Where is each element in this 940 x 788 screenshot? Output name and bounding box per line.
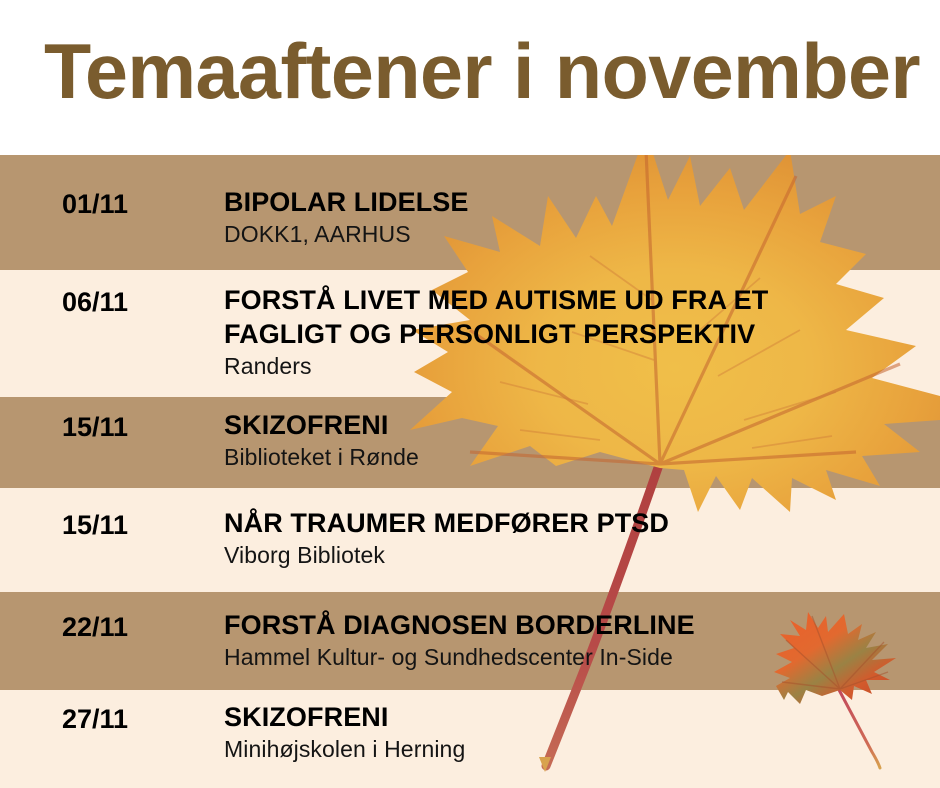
event-title: SKIZOFRENI bbox=[224, 700, 930, 734]
event-venue: Randers bbox=[224, 351, 930, 381]
event-date: 15/11 bbox=[62, 412, 128, 443]
event-body: BIPOLAR LIDELSE DOKK1, AARHUS bbox=[224, 185, 930, 249]
event-body: NÅR TRAUMER MEDFØRER PTSD Viborg Bibliot… bbox=[224, 506, 930, 570]
event-venue: Viborg Bibliotek bbox=[224, 540, 930, 570]
event-venue: Biblioteket i Rønde bbox=[224, 442, 930, 472]
poster-header: Temaaftener i november bbox=[0, 0, 940, 155]
poster-canvas: Temaaftener i november 01/11 BIPOLAR LID… bbox=[0, 0, 940, 788]
event-date: 06/11 bbox=[62, 287, 128, 318]
list-item[interactable]: 15/11 NÅR TRAUMER MEDFØRER PTSD Viborg B… bbox=[0, 488, 940, 592]
list-item[interactable]: 01/11 BIPOLAR LIDELSE DOKK1, AARHUS bbox=[0, 155, 940, 270]
list-item[interactable]: 22/11 FORSTÅ DIAGNOSEN BORDERLINE Hammel… bbox=[0, 592, 940, 690]
event-venue: Hammel Kultur- og Sundhedscenter In-Side bbox=[224, 642, 930, 672]
event-date: 15/11 bbox=[62, 510, 128, 541]
event-title: BIPOLAR LIDELSE bbox=[224, 185, 930, 219]
event-date: 22/11 bbox=[62, 612, 128, 643]
event-venue: Minihøjskolen i Herning bbox=[224, 734, 930, 764]
event-date: 01/11 bbox=[62, 189, 128, 220]
event-date: 27/11 bbox=[62, 704, 128, 735]
page-title: Temaaftener i november bbox=[44, 28, 895, 114]
list-item[interactable]: 06/11 FORSTÅ LIVET MED AUTISME UD FRA ET… bbox=[0, 270, 940, 397]
event-body: FORSTÅ LIVET MED AUTISME UD FRA ET FAGLI… bbox=[224, 283, 930, 381]
event-title: NÅR TRAUMER MEDFØRER PTSD bbox=[224, 506, 930, 540]
event-body: SKIZOFRENI Minihøjskolen i Herning bbox=[224, 700, 930, 764]
event-body: FORSTÅ DIAGNOSEN BORDERLINE Hammel Kultu… bbox=[224, 608, 930, 672]
list-item[interactable]: 27/11 SKIZOFRENI Minihøjskolen i Herning bbox=[0, 690, 940, 788]
list-item[interactable]: 15/11 SKIZOFRENI Biblioteket i Rønde bbox=[0, 397, 940, 488]
event-venue: DOKK1, AARHUS bbox=[224, 219, 930, 249]
event-body: SKIZOFRENI Biblioteket i Rønde bbox=[224, 408, 930, 472]
event-title: FORSTÅ DIAGNOSEN BORDERLINE bbox=[224, 608, 930, 642]
event-title: FORSTÅ LIVET MED AUTISME UD FRA ET FAGLI… bbox=[224, 283, 930, 351]
event-title: SKIZOFRENI bbox=[224, 408, 930, 442]
